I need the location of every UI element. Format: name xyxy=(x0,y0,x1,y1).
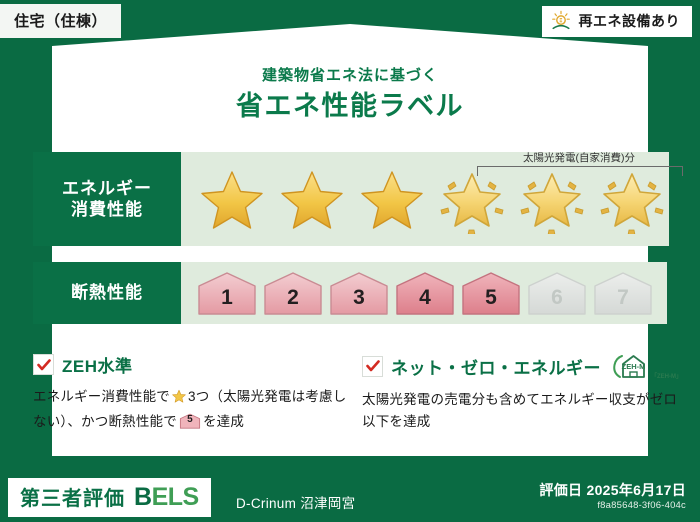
renewable-badge-label: 再エネ設備あり xyxy=(579,11,681,31)
net-zero-description: 太陽光発電の売電分も含めてエネルギー収支がゼロ以下を達成 xyxy=(362,389,682,432)
inline-star-icon xyxy=(171,388,187,411)
zeh-checkbox[interactable] xyxy=(33,354,54,375)
project-name: D-Crinum 沼津岡宮 xyxy=(236,492,355,512)
insulation-performance-row: 断熱性能 xyxy=(33,262,667,324)
star-solar-6 xyxy=(595,164,669,234)
insulation-level-4-value: 4 xyxy=(419,286,431,316)
insulation-level-1-value: 1 xyxy=(221,286,233,316)
star-filled-1 xyxy=(195,164,269,234)
bels-letters-els: ELS xyxy=(152,483,199,511)
zeh-insulation-badge: 5 xyxy=(179,413,201,429)
energy-star-group xyxy=(181,164,669,234)
insulation-level-6: 6 xyxy=(525,270,589,316)
insulation-level-3: 3 xyxy=(327,270,391,316)
solar-self-consumption-note: 太陽光発電(自家消費)分 xyxy=(473,150,685,165)
zeh-m-house-icon: ZEH-M xyxy=(611,352,649,380)
label-subtitle: 建築物省エネ法に基づく xyxy=(0,64,700,85)
evaluation-date: 評価日 2025年6月17日 xyxy=(539,480,686,500)
zeh-badge-value: 5 xyxy=(179,413,201,429)
insulation-levels-area: 1 2 3 4 xyxy=(181,262,667,324)
energy-performance-row: エネルギー 消費性能 太陽光発電(自家消費)分 xyxy=(33,152,667,246)
energy-label-line2: 消費性能 xyxy=(71,199,143,220)
star-filled-3 xyxy=(355,164,429,234)
energy-performance-label: エネルギー 消費性能 xyxy=(33,152,181,246)
zeh-desc-part3: を達成 xyxy=(203,414,244,429)
renewable-equipment-badge: 再エネ設備あり xyxy=(542,6,693,37)
label-title: 省エネ性能ラベル xyxy=(0,84,700,123)
bels-letter-b: B xyxy=(134,483,152,511)
bels-certification-box: 第三者評価 BELS xyxy=(8,478,211,517)
svg-text:ZEH-M: ZEH-M xyxy=(622,362,646,371)
sun-renewable-icon xyxy=(550,10,572,32)
zeh-title: ZEH水準 xyxy=(62,352,133,377)
zeh-description: エネルギー消費性能で3つ（太陽光発電は考慮しない）、かつ断熱性能で5を達成 xyxy=(33,386,353,432)
evaluation-id: f8a85648-3f06-404c xyxy=(597,500,686,511)
criteria-net-zero-header: ネット・ゼロ・エネルギー ZEH-M 「ZEH-M」 xyxy=(362,352,682,380)
insulation-level-5: 5 xyxy=(459,270,523,316)
zeh-desc-part1: エネルギー消費性能で xyxy=(33,389,170,404)
insulation-level-2-value: 2 xyxy=(287,286,299,316)
star-solar-5 xyxy=(515,164,589,234)
net-zero-title: ネット・ゼロ・エネルギー xyxy=(391,354,601,379)
energy-label-root: 住宅（住棟） 再エネ設備あり 建築物省エネ法に基づく 省エネ性能ラベル xyxy=(0,0,700,522)
net-zero-checkbox[interactable] xyxy=(362,356,383,377)
insulation-level-2: 2 xyxy=(261,270,325,316)
insulation-level-3-value: 3 xyxy=(353,286,365,316)
footer-bar: 第三者評価 BELS D-Crinum 沼津岡宮 評価日 2025年6月17日 … xyxy=(0,466,700,522)
check-icon xyxy=(366,360,380,372)
zeh-m-logo: ZEH-M 「ZEH-M」 xyxy=(611,352,682,380)
criteria-zeh: ZEH水準 エネルギー消費性能で3つ（太陽光発電は考慮しない）、かつ断熱性能で5… xyxy=(33,352,353,432)
building-type-tag: 住宅（住棟） xyxy=(0,4,121,38)
insulation-level-group: 1 2 3 4 xyxy=(181,270,655,316)
insulation-label-text: 断熱性能 xyxy=(71,282,143,303)
zeh-m-caption: 「ZEH-M」 xyxy=(651,371,682,380)
energy-stars-area: 太陽光発電(自家消費)分 xyxy=(181,152,669,246)
criteria-zeh-header: ZEH水準 xyxy=(33,352,353,377)
insulation-level-1: 1 xyxy=(195,270,259,316)
insulation-level-6-value: 6 xyxy=(551,286,563,316)
insulation-performance-label: 断熱性能 xyxy=(33,262,181,324)
star-solar-4 xyxy=(435,164,509,234)
energy-label-line1: エネルギー xyxy=(62,178,152,199)
check-icon xyxy=(37,359,51,371)
insulation-level-7-value: 7 xyxy=(617,286,629,316)
insulation-level-7: 7 xyxy=(591,270,655,316)
insulation-level-5-value: 5 xyxy=(485,286,497,316)
bels-en-label: BELS xyxy=(134,483,199,512)
bels-jp-label: 第三者評価 xyxy=(20,482,125,511)
criteria-net-zero: ネット・ゼロ・エネルギー ZEH-M 「ZEH-M」 太陽光発電の売電分も含めて… xyxy=(362,352,682,432)
insulation-level-4: 4 xyxy=(393,270,457,316)
star-filled-2 xyxy=(275,164,349,234)
